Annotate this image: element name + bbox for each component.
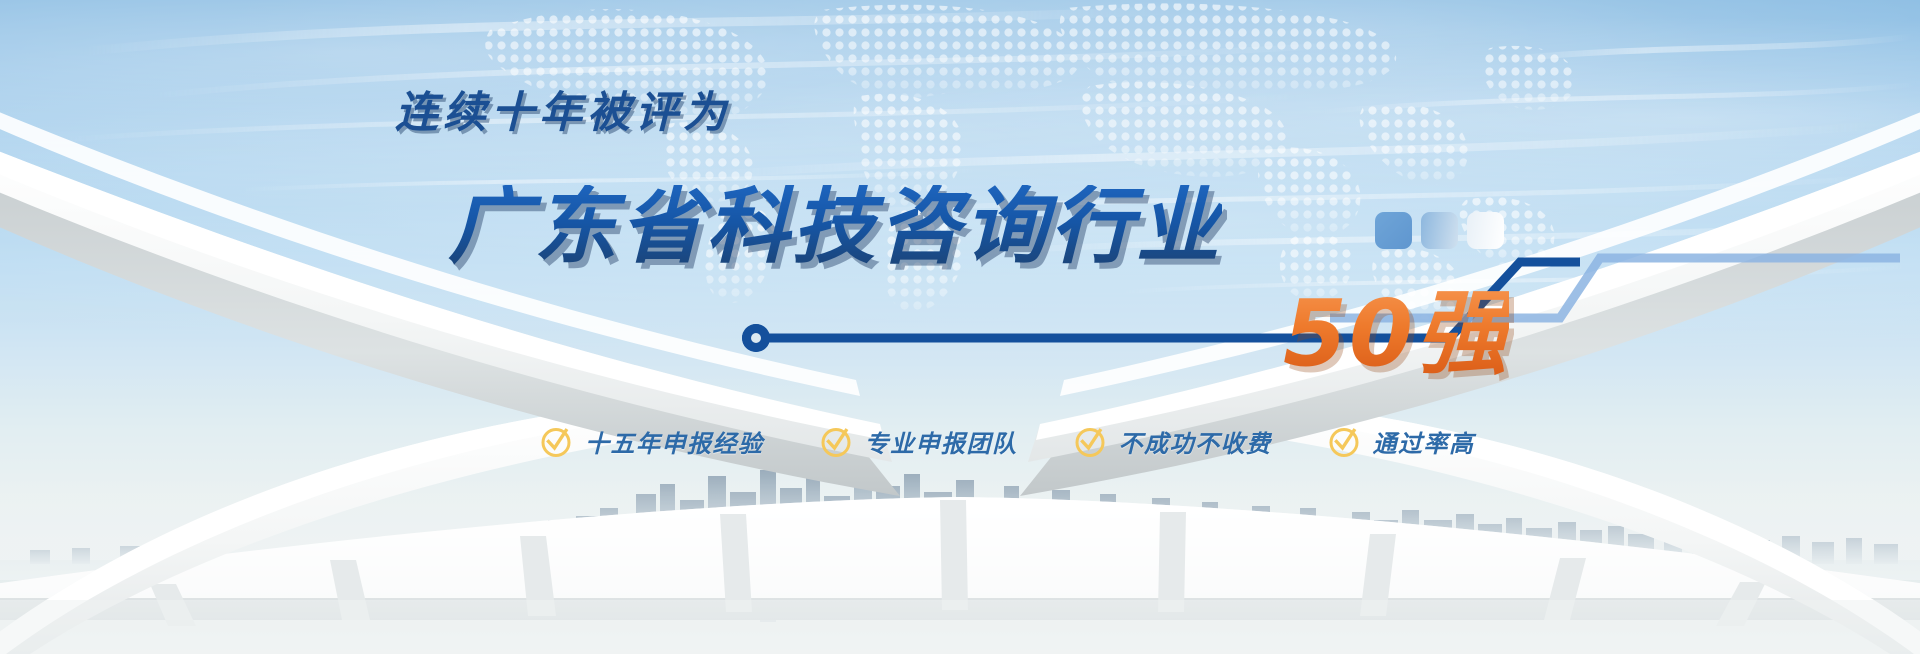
chip-solid-blue — [1375, 212, 1412, 249]
decor-chips — [1375, 212, 1504, 249]
feature-item-team: 专业申报团队 — [820, 424, 1018, 459]
feature-item-pass-rate: 通过率高 — [1328, 424, 1475, 459]
promo-banner: 连续十年被评为 广东省科技咨询行业 50强 十五年申报经验 专业申报团队 — [0, 0, 1920, 654]
rank-badge-text: 50强 — [1283, 288, 1509, 380]
feature-list: 十五年申报经验 专业申报团队 不成功不收费 — [540, 424, 1475, 459]
chip-gradient-blue — [1421, 212, 1458, 249]
feature-item-experience: 十五年申报经验 — [540, 424, 764, 459]
check-circle-icon — [540, 426, 572, 458]
check-circle-icon — [1328, 426, 1360, 458]
feature-label: 十五年申报经验 — [585, 424, 764, 459]
feature-item-no-fee: 不成功不收费 — [1074, 424, 1272, 459]
check-circle-icon — [1074, 426, 1106, 458]
banner-tagline: 连续十年被评为 — [395, 78, 731, 140]
feature-label: 专业申报团队 — [865, 424, 1018, 459]
feature-label: 不成功不收费 — [1119, 424, 1272, 459]
connector-node-dot — [742, 324, 770, 352]
check-circle-icon — [820, 426, 852, 458]
banner-content: 连续十年被评为 广东省科技咨询行业 50强 十五年申报经验 专业申报团队 — [0, 0, 1920, 654]
banner-headline: 广东省科技咨询行业 — [448, 185, 1222, 268]
chip-white — [1467, 212, 1504, 249]
feature-label: 通过率高 — [1373, 424, 1475, 459]
connector-line — [0, 0, 1920, 654]
